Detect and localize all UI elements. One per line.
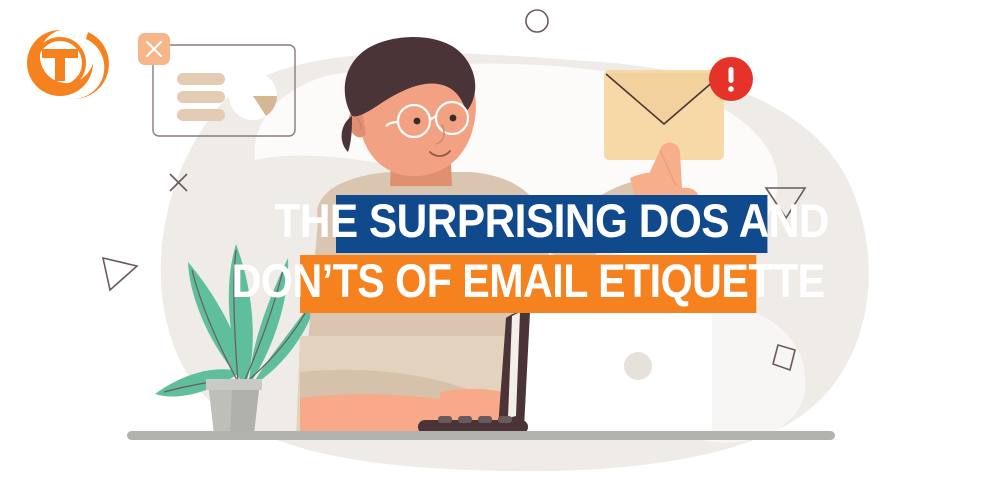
title-banner-line-2: DON’TS OF EMAIL ETIQUETTE <box>300 255 756 313</box>
laptop-screen <box>508 308 712 432</box>
eye-left <box>414 118 421 125</box>
alert-badge <box>709 57 753 101</box>
laptop-logo-mark <box>624 352 652 380</box>
desk-surface <box>127 431 835 440</box>
card-pie-chart <box>229 72 277 120</box>
card-bars <box>177 73 225 121</box>
hero-banner-image: THE SURPRISING DOS AND DON’TS OF EMAIL E… <box>0 0 1000 500</box>
circular-t-logo[interactable] <box>27 30 109 99</box>
triangle-outline-left-icon <box>103 258 137 290</box>
card-close-button[interactable] <box>138 33 170 65</box>
title-line-2-text: DON’TS OF EMAIL ETIQUETTE <box>232 256 825 309</box>
title-line-1-text: THE SURPRISING DOS AND <box>274 196 829 249</box>
eye-right <box>450 115 457 122</box>
circle-outline-icon <box>526 10 548 32</box>
plant-pot <box>206 379 262 434</box>
title-banner-line-1: THE SURPRISING DOS AND <box>336 195 767 253</box>
